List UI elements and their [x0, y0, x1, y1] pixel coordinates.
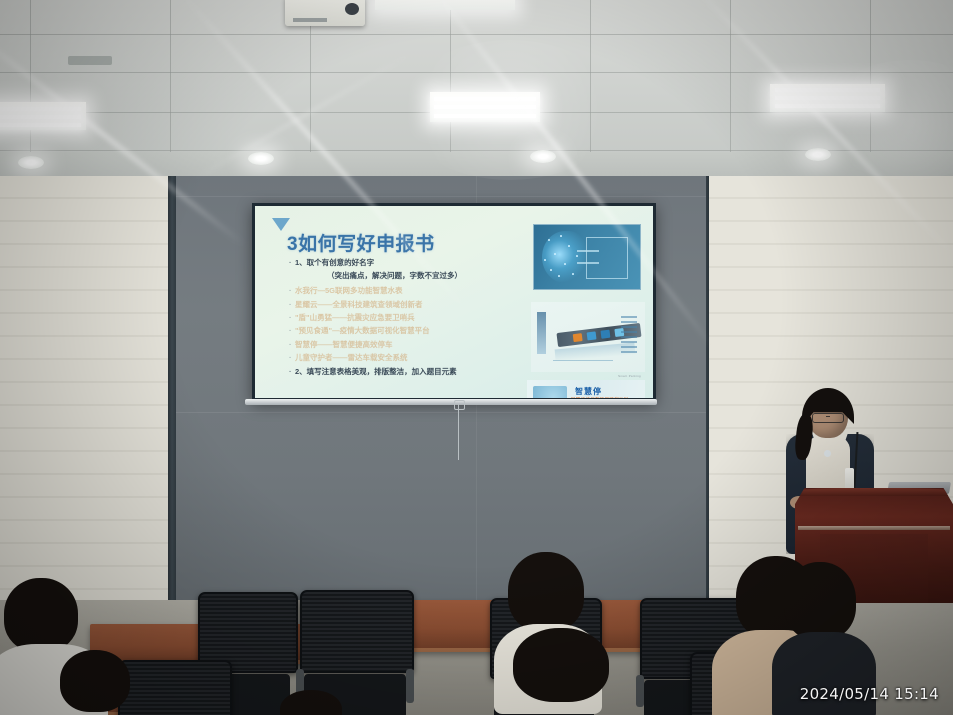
slide-bullet-text: "盾"山勇猛——抗震灾应急要卫哨兵: [295, 313, 415, 322]
camera-timestamp: 2024/05/14 15:14: [800, 685, 939, 703]
projector-lens-icon: [345, 3, 359, 15]
smart-parking-dashboard-image: [531, 302, 645, 372]
glasses-icon: [812, 413, 844, 423]
slide-bullet: ·1、取个有创意的好名字: [289, 259, 499, 267]
slide-bullet-list: ·1、取个有创意的好名字 （突出痛点，解决问题，字数不宜过多） ·水我行—5G联…: [289, 259, 499, 381]
poster-caption-top: Smart Parking: [618, 374, 641, 378]
slide-bullet: ·星耀云——全景科技建筑查领域创新者: [289, 301, 499, 309]
slide-bullet-text: "预见食通"—疫情大数据可视化智慧平台: [295, 326, 430, 335]
projection-screen: 3如何写好申报书 ·1、取个有创意的好名字 （突出痛点，解决问题，字数不宜过多）…: [252, 203, 656, 401]
slide-bullet: ·儿童守护者——雷达车载安全系统: [289, 354, 499, 362]
presenter-badge: [824, 450, 831, 457]
poster-subtitle: 智慧便捷停车项目路演计划: [571, 397, 629, 398]
slide-bullet-text: 儿童守护者——雷达车载安全系统: [295, 353, 408, 362]
slide-bullet: ·智慧停——智慧便捷高效停车: [289, 341, 499, 349]
slide-bullet-text: 智慧停——智慧便捷高效停车: [295, 340, 393, 349]
water-bottle: [845, 468, 854, 490]
slide-bullet: ·2、填写注意表格美观，排版整洁，加入题目元素: [289, 368, 499, 376]
ceiling-vent: [68, 56, 112, 65]
slide-bullet: ·"盾"山勇猛——抗震灾应急要卫哨兵: [289, 314, 499, 322]
screen-pull-cord[interactable]: [458, 404, 459, 460]
ceiling-light-panel: [770, 84, 885, 112]
projected-slide: 3如何写好申报书 ·1、取个有创意的好名字 （突出痛点，解决问题，字数不宜过多）…: [255, 206, 653, 398]
poster-photo: [533, 386, 567, 398]
slide-bullet: （突出痛点，解决问题，字数不宜过多）: [327, 272, 499, 280]
dashboard-ticks: [621, 316, 637, 356]
ai-face-network-image: [533, 224, 641, 290]
slide-bullet: ·水我行—5G联网多功能智慧水表: [289, 287, 499, 295]
audience-member: [280, 690, 360, 715]
downlight: [248, 152, 274, 165]
ceiling-projector: [285, 0, 365, 26]
downlight: [805, 148, 831, 161]
projector-vent: [293, 18, 327, 22]
slide-bullet-text: （突出痛点，解决问题，字数不宜过多）: [327, 271, 462, 280]
slide-bullet-text: 星耀云——全景科技建筑查领域创新者: [295, 300, 423, 309]
audience-member: [505, 628, 625, 715]
downlight: [18, 156, 44, 169]
slide-bullet-text: 1、取个有创意的好名字: [295, 258, 374, 267]
smart-parking-poster-image: 智慧停 智慧便捷停车项目路演计划 Smart Parking: [527, 380, 645, 398]
circuit-glyph-icon: [586, 237, 628, 279]
downlight: [530, 150, 556, 163]
slide-bullet: ·"预见食通"—疫情大数据可视化智慧平台: [289, 327, 499, 335]
slide-bullet-text: 水我行—5G联网多功能智慧水表: [295, 286, 403, 295]
conference-room-photo: 3如何写好申报书 ·1、取个有创意的好名字 （突出痛点，解决问题，字数不宜过多）…: [0, 0, 953, 715]
slide-title: 3如何写好申报书: [287, 229, 435, 256]
ceiling-light-panel: [375, 0, 515, 10]
ceiling-light-panel: [0, 102, 86, 130]
audience-member: [60, 650, 180, 715]
ceiling-light-panel: [430, 92, 540, 122]
poster-title: 智慧停: [575, 386, 602, 397]
dashboard-side-chart: [537, 312, 546, 354]
screen-bottom-bar: [245, 399, 657, 405]
slide-bullet-text: 2、填写注意表格美观，排版整洁，加入题目元素: [295, 367, 457, 376]
